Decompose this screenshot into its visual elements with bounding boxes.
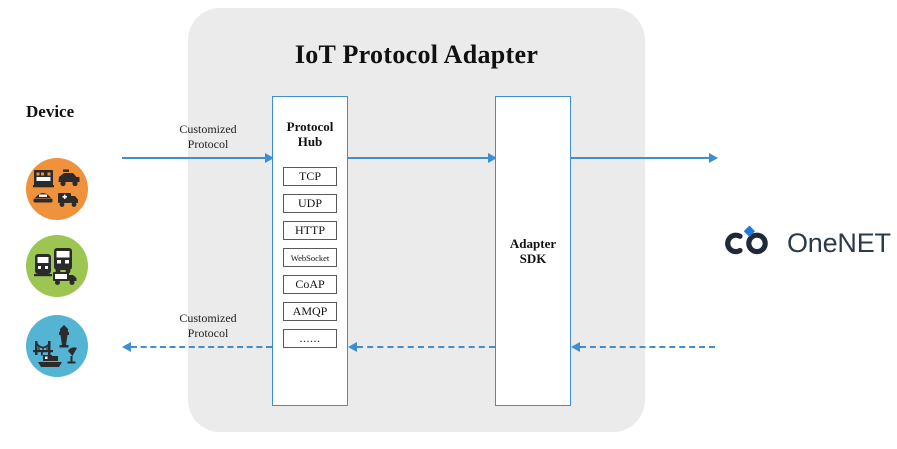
onenet-wordmark: OneNET xyxy=(787,228,891,259)
flow-downlink-label: Customized Protocol xyxy=(150,311,266,341)
flow-uplink-label: Customized Protocol xyxy=(150,122,266,152)
page-title: IoT Protocol Adapter xyxy=(188,40,645,70)
adapter-sdk-title: Adapter SDK xyxy=(496,236,570,266)
protocol-hub-box[interactable]: Protocol Hub TCP UDP HTTP WebSocket CoAP… xyxy=(272,96,348,406)
flow-uplink-sdk-to-platform xyxy=(571,157,715,159)
protocol-hub-title: Protocol Hub xyxy=(273,119,347,149)
device-group-infrastructure[interactable] xyxy=(26,315,88,377)
protocol-chip-more[interactable]: ...... xyxy=(283,329,337,348)
protocol-chip-tcp[interactable]: TCP xyxy=(283,167,337,186)
diagram-canvas: IoT Protocol Adapter Device xyxy=(0,0,897,449)
onenet-mark-icon xyxy=(724,226,778,260)
protocol-chip-http[interactable]: HTTP xyxy=(283,221,337,240)
flow-downlink-platform-to-sdk xyxy=(580,346,715,348)
protocol-chip-websocket[interactable]: WebSocket xyxy=(283,248,337,267)
arrowhead-downlink-device xyxy=(122,342,131,352)
protocol-chip-amqp[interactable]: AMQP xyxy=(283,302,337,321)
adapter-panel xyxy=(188,8,645,432)
device-group-transport[interactable] xyxy=(26,235,88,297)
flow-downlink-hub-to-device xyxy=(131,346,272,348)
adapter-sdk-box[interactable]: Adapter SDK xyxy=(495,96,571,406)
arrowhead-downlink-hub xyxy=(348,342,357,352)
flow-uplink-hub-to-sdk xyxy=(348,157,495,159)
protocol-chip-list: TCP UDP HTTP WebSocket CoAP AMQP ...... xyxy=(273,167,347,348)
device-section-title: Device xyxy=(26,102,74,122)
protocol-chip-coap[interactable]: CoAP xyxy=(283,275,337,294)
arrowhead-uplink-platform xyxy=(709,153,718,163)
protocol-chip-udp[interactable]: UDP xyxy=(283,194,337,213)
flow-uplink-device-to-hub xyxy=(122,157,272,159)
arrowhead-downlink-sdk xyxy=(571,342,580,352)
device-group-public-safety[interactable] xyxy=(26,158,88,220)
flow-downlink-sdk-to-hub xyxy=(357,346,495,348)
onenet-logo: OneNET xyxy=(724,226,891,260)
